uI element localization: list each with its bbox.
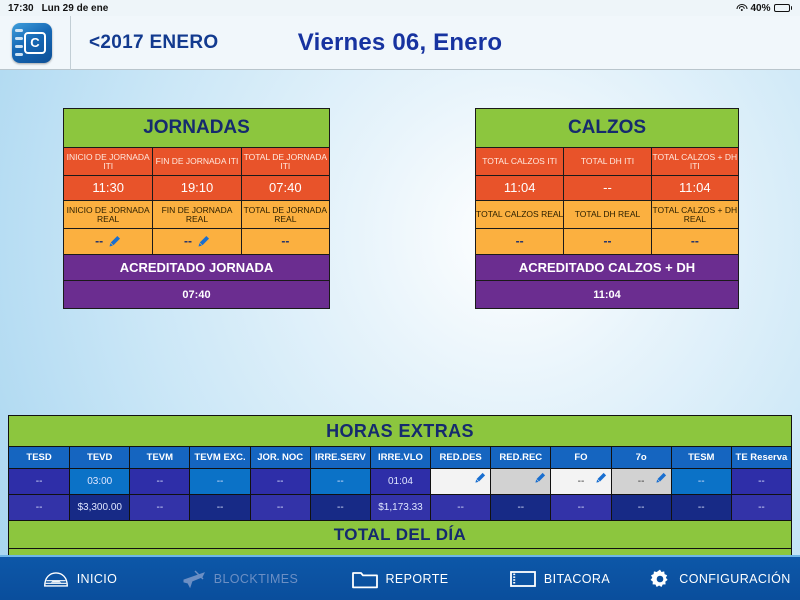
calzos-value-total-calzos-real: -- — [476, 228, 563, 254]
tab-configuracin[interactable]: CONFIGURACIÓN — [640, 556, 800, 600]
tab-label: BITACORA — [544, 572, 610, 586]
horas-extras-hours-cell: -- — [189, 468, 249, 494]
horas-extras-hours-cell-text: -- — [758, 476, 765, 487]
jornadas-label-inicio-real: INICIO DE JORNADA REAL — [64, 200, 152, 228]
calzos-label-total-calzos-real: TOTAL CALZOS REAL — [476, 200, 563, 228]
edit-pencil-icon[interactable] — [534, 472, 547, 485]
horas-extras-hours-cell: -- — [310, 468, 370, 494]
edit-pencil-icon[interactable] — [595, 472, 608, 485]
calzos-label-total-dh-iti: TOTAL DH ITI — [563, 147, 650, 175]
horas-extras-hours-cell: 01:04 — [370, 468, 430, 494]
app-header: C <2017 ENERO Viernes 06, Enero — [0, 16, 800, 70]
jornadas-value-total-real: -- — [241, 228, 329, 254]
jornadas-value-total-iti: 07:40 — [241, 175, 329, 200]
status-bar-right: 40% — [736, 3, 792, 14]
calzos-value-total-dh-real: -- — [563, 228, 650, 254]
jornadas-title: JORNADAS — [64, 109, 329, 147]
jornadas-real-values-row: -- -- -- — [64, 228, 329, 254]
horas-extras-amount-cell: -- — [550, 494, 610, 520]
edit-pencil-icon[interactable] — [655, 472, 668, 485]
jornadas-acreditado-value: 07:40 — [64, 280, 329, 308]
horas-extras-hours-cell: 03:00 — [69, 468, 129, 494]
calzos-iti-labels-row: TOTAL CALZOS ITI TOTAL DH ITI TOTAL CALZ… — [476, 147, 738, 175]
tab-reporte[interactable]: REPORTE — [320, 556, 480, 600]
horas-extras-amount-cell: -- — [129, 494, 189, 520]
jornadas-iti-labels-row: INICIO DE JORNADA ITI FIN DE JORNADA ITI… — [64, 147, 329, 175]
jornadas-value-fin-real[interactable]: -- — [152, 228, 240, 254]
header-divider — [70, 16, 71, 70]
calzos-acreditado-label: ACREDITADO CALZOS + DH — [476, 254, 738, 280]
horas-extras-column-header: TEVM — [129, 446, 189, 468]
horas-extras-amount-cell: $3,300.00 — [69, 494, 129, 520]
tab-label: INICIO — [77, 572, 118, 586]
horas-extras-amount-cell: -- — [310, 494, 370, 520]
horas-extras-hours-cell[interactable] — [430, 468, 490, 494]
calzos-value-total-calzos-dh-real: -- — [651, 228, 738, 254]
battery-percent-label: 40% — [750, 3, 770, 14]
wifi-icon — [736, 4, 747, 13]
calzos-value-total-calzos-iti: 11:04 — [476, 175, 563, 200]
horas-extras-hours-cell-text: -- — [638, 476, 645, 487]
horas-extras-hours-cell-text: -- — [277, 476, 284, 487]
horas-extras-hours-cell-text: -- — [217, 476, 224, 487]
status-bar-left: 17:30 Lun 29 de ene — [8, 3, 108, 14]
horas-extras-hours-cell-text: -- — [578, 476, 585, 487]
horas-extras-column-header: RED.DES — [430, 446, 490, 468]
notebook-rings-icon — [15, 29, 23, 57]
horas-extras-header-row: TESDTEVDTEVMTEVM EXC.JOR. NOCIRRE.SERVIR… — [9, 446, 791, 468]
battery-icon — [774, 4, 793, 12]
total-del-dia-label: TOTAL DEL DÍA — [9, 520, 791, 548]
hangar-icon — [43, 570, 69, 588]
airplane-icon — [182, 569, 206, 589]
calzos-title: CALZOS — [476, 109, 738, 147]
edit-pencil-icon[interactable] — [108, 235, 121, 248]
tab-label: REPORTE — [386, 572, 449, 586]
jornadas-value-fin-real-text: -- — [184, 235, 192, 248]
calzos-label-total-dh-real: TOTAL DH REAL — [563, 200, 650, 228]
calzos-real-labels-row: TOTAL CALZOS REAL TOTAL DH REAL TOTAL CA… — [476, 200, 738, 228]
horas-extras-hours-cell: -- — [250, 468, 310, 494]
calzos-label-total-calzos-iti: TOTAL CALZOS ITI — [476, 147, 563, 175]
horas-extras-amount-cell: -- — [9, 494, 69, 520]
horas-extras-hours-cell: -- — [671, 468, 731, 494]
tab-inicio[interactable]: INICIO — [0, 556, 160, 600]
back-to-month-button[interactable]: <2017 ENERO — [89, 32, 219, 54]
horas-extras-column-header: FO — [550, 446, 610, 468]
jornadas-label-inicio-iti: INICIO DE JORNADA ITI — [64, 147, 152, 175]
calzos-value-total-dh-iti: -- — [563, 175, 650, 200]
edit-pencil-icon[interactable] — [474, 472, 487, 485]
horas-extras-hours-cell-text: -- — [698, 476, 705, 487]
horas-extras-hours-cell: -- — [129, 468, 189, 494]
horas-extras-amount-cell: $1,173.33 — [370, 494, 430, 520]
bottom-tab-bar: INICIOBLOCKTIMESREPORTEBITACORACONFIGURA… — [0, 555, 800, 600]
jornadas-real-labels-row: INICIO DE JORNADA REAL FIN DE JORNADA RE… — [64, 200, 329, 228]
jornadas-acreditado-label: ACREDITADO JORNADA — [64, 254, 329, 280]
horas-extras-amount-cell: -- — [189, 494, 249, 520]
jornadas-value-inicio-iti: 11:30 — [64, 175, 152, 200]
horas-extras-amount-cell: -- — [490, 494, 550, 520]
horas-extras-amount-cell: -- — [430, 494, 490, 520]
calzos-label-total-calzos-dh-iti: TOTAL CALZOS + DH ITI — [651, 147, 738, 175]
status-date: Lun 29 de ene — [42, 3, 109, 14]
jornadas-value-inicio-real[interactable]: -- — [64, 228, 152, 254]
app-icon-glyph: C — [24, 32, 46, 54]
horas-extras-column-header: IRRE.VLO — [370, 446, 430, 468]
horas-extras-amount-cell: -- — [731, 494, 791, 520]
horas-extras-hours-cell[interactable]: -- — [550, 468, 610, 494]
horas-extras-title: HORAS EXTRAS — [9, 416, 791, 446]
horas-extras-hours-cell[interactable]: -- — [611, 468, 671, 494]
horas-extras-column-header: IRRE.SERV — [310, 446, 370, 468]
calzos-iti-values-row: 11:04 -- 11:04 — [476, 175, 738, 200]
horas-extras-amount-cell: -- — [250, 494, 310, 520]
horas-extras-amount-cell: -- — [671, 494, 731, 520]
horas-extras-hours-cell[interactable] — [490, 468, 550, 494]
tab-label: CONFIGURACIÓN — [679, 572, 790, 586]
horas-extras-column-header: JOR. NOC — [250, 446, 310, 468]
gear-icon — [649, 568, 671, 590]
edit-pencil-icon[interactable] — [197, 235, 210, 248]
horas-extras-hours-cell-text: -- — [337, 476, 344, 487]
jornadas-value-inicio-real-text: -- — [95, 235, 103, 248]
tab-label: BLOCKTIMES — [214, 572, 299, 586]
horas-extras-hours-cell-text: 03:00 — [87, 476, 112, 487]
horas-extras-amount-cell: -- — [611, 494, 671, 520]
jornadas-iti-values-row: 11:30 19:10 07:40 — [64, 175, 329, 200]
horas-extras-hours-cell: -- — [731, 468, 791, 494]
calzos-value-total-calzos-dh-iti: 11:04 — [651, 175, 738, 200]
jornadas-label-total-iti: TOTAL DE JORNADA ITI — [241, 147, 329, 175]
horas-extras-column-header: TESD — [9, 446, 69, 468]
horas-extras-column-header: TEVD — [69, 446, 129, 468]
folder-icon — [352, 569, 378, 589]
horas-extras-column-header: TE Reserva — [731, 446, 791, 468]
horas-extras-column-header: TESM — [671, 446, 731, 468]
jornadas-value-fin-iti: 19:10 — [152, 175, 240, 200]
horas-extras-column-header: TEVM EXC. — [189, 446, 249, 468]
horas-extras-hours-cell-text: -- — [157, 476, 164, 487]
calendar-notebook-app-icon: C — [12, 23, 52, 63]
status-time: 17:30 — [8, 3, 34, 14]
horas-extras-hours-row: --03:00--------01:04-------- — [9, 468, 791, 494]
horas-extras-column-header: 7o — [611, 446, 671, 468]
calzos-panel: CALZOS TOTAL CALZOS ITI TOTAL DH ITI TOT… — [475, 108, 739, 309]
horas-extras-hours-cell-text: 01:04 — [388, 476, 413, 487]
horas-extras-hours-cell: -- — [9, 468, 69, 494]
status-bar: 17:30 Lun 29 de ene 40% — [0, 0, 800, 16]
horas-extras-column-header: RED.REC — [490, 446, 550, 468]
tab-bitacora[interactable]: BITACORA — [480, 556, 640, 600]
jornadas-label-fin-real: FIN DE JORNADA REAL — [152, 200, 240, 228]
jornadas-label-fin-iti: FIN DE JORNADA ITI — [152, 147, 240, 175]
calzos-label-total-calzos-dh-real: TOTAL CALZOS + DH REAL — [651, 200, 738, 228]
main-canvas: JORNADAS INICIO DE JORNADA ITI FIN DE JO… — [0, 70, 800, 555]
horas-extras-hours-cell-text: -- — [36, 476, 43, 487]
jornadas-panel: JORNADAS INICIO DE JORNADA ITI FIN DE JO… — [63, 108, 330, 309]
tab-blocktimes[interactable]: BLOCKTIMES — [160, 556, 320, 600]
calzos-acreditado-value: 11:04 — [476, 280, 738, 308]
calzos-real-values-row: -- -- -- — [476, 228, 738, 254]
horas-extras-amounts-row: --$3,300.00--------$1,173.33------------ — [9, 494, 791, 520]
logbook-icon — [510, 570, 536, 588]
jornadas-label-total-real: TOTAL DE JORNADA REAL — [241, 200, 329, 228]
